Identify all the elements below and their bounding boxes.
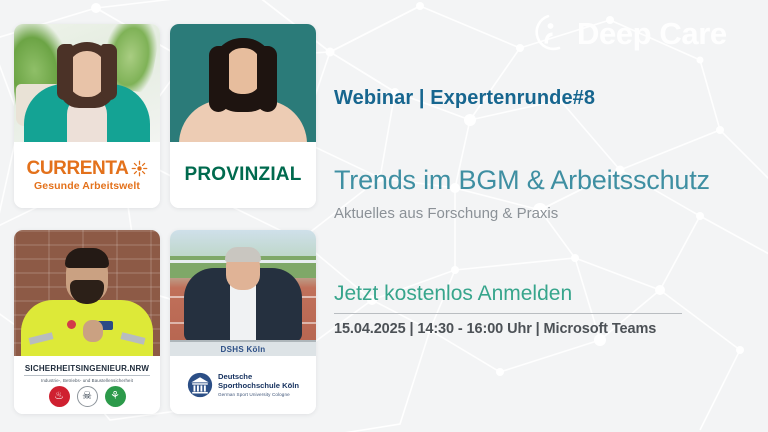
webinar-eyebrow: Webinar | Expertenrunde#8 (334, 86, 754, 110)
cta-divider (334, 313, 682, 314)
speaker-photo-sicherheitsingenieur (14, 230, 160, 356)
page-title: Trends im BGM & Arbeitsschutz (334, 164, 758, 196)
partner-card-provinzial: PROVINZIAL (170, 24, 316, 208)
partner-logo-sicherheitsingenieur-nrw: SICHERHEITSINGENIEUR.NRW Industrie-, Bet… (14, 356, 160, 414)
provinzial-wordmark: PROVINZIAL (184, 164, 301, 186)
speaker-photo-provinzial (170, 24, 316, 142)
classical-building-icon (187, 372, 213, 398)
deep-care-circle-person-icon (528, 13, 568, 53)
currenta-tagline: Gesunde Arbeitswelt (34, 180, 140, 192)
partner-card-currenta: CURRENTA Gesunde Arbeitswelt (14, 24, 160, 208)
speaker-photo-dshs: DSHS Köln (170, 230, 316, 356)
deep-care-wordmark: Deep Care (577, 18, 727, 49)
track-hurdle-label: DSHS Köln (170, 345, 316, 354)
sunburst-icon (131, 160, 148, 177)
register-cta-link[interactable]: Jetzt kostenlos Anmelden (334, 281, 754, 307)
webinar-promo-banner: Deep Care CURRENTA (0, 0, 768, 432)
currenta-wordmark: CURRENTA (27, 159, 129, 178)
environment-tree-icon: ⚘ (105, 386, 126, 407)
deep-care-logo: Deep Care (528, 10, 760, 56)
sinrw-divider (24, 375, 149, 376)
partner-logo-provinzial: PROVINZIAL (170, 142, 316, 208)
dshs-name-line2: Sporthochschule Köln (218, 382, 299, 391)
page-subtitle: Aktuelles aus Forschung & Praxis (334, 204, 754, 224)
partner-card-sicherheitsingenieur-nrw: SICHERHEITSINGENIEUR.NRW Industrie-, Bet… (14, 230, 160, 414)
partner-logo-dshs-koeln: Deutsche Sporthochschule Köln German Spo… (170, 356, 316, 414)
sinrw-tagline: Industrie-, Betriebs- und Baustellensich… (41, 378, 133, 383)
toxic-skull-icon: ☠ (77, 386, 98, 407)
speaker-photo-currenta (14, 24, 160, 142)
partner-logo-currenta: CURRENTA Gesunde Arbeitswelt (14, 142, 160, 208)
dshs-name-line3: German Sport University Cologne (218, 392, 299, 397)
partner-card-dshs-koeln: DSHS Köln Deutsche Sporthochschule Köln (170, 230, 316, 414)
event-meta: 15.04.2025 | 14:30 - 16:00 Uhr | Microso… (334, 320, 754, 339)
sinrw-wordmark: SICHERHEITSINGENIEUR.NRW (25, 364, 149, 373)
fire-hazard-icon: ♨ (49, 386, 70, 407)
